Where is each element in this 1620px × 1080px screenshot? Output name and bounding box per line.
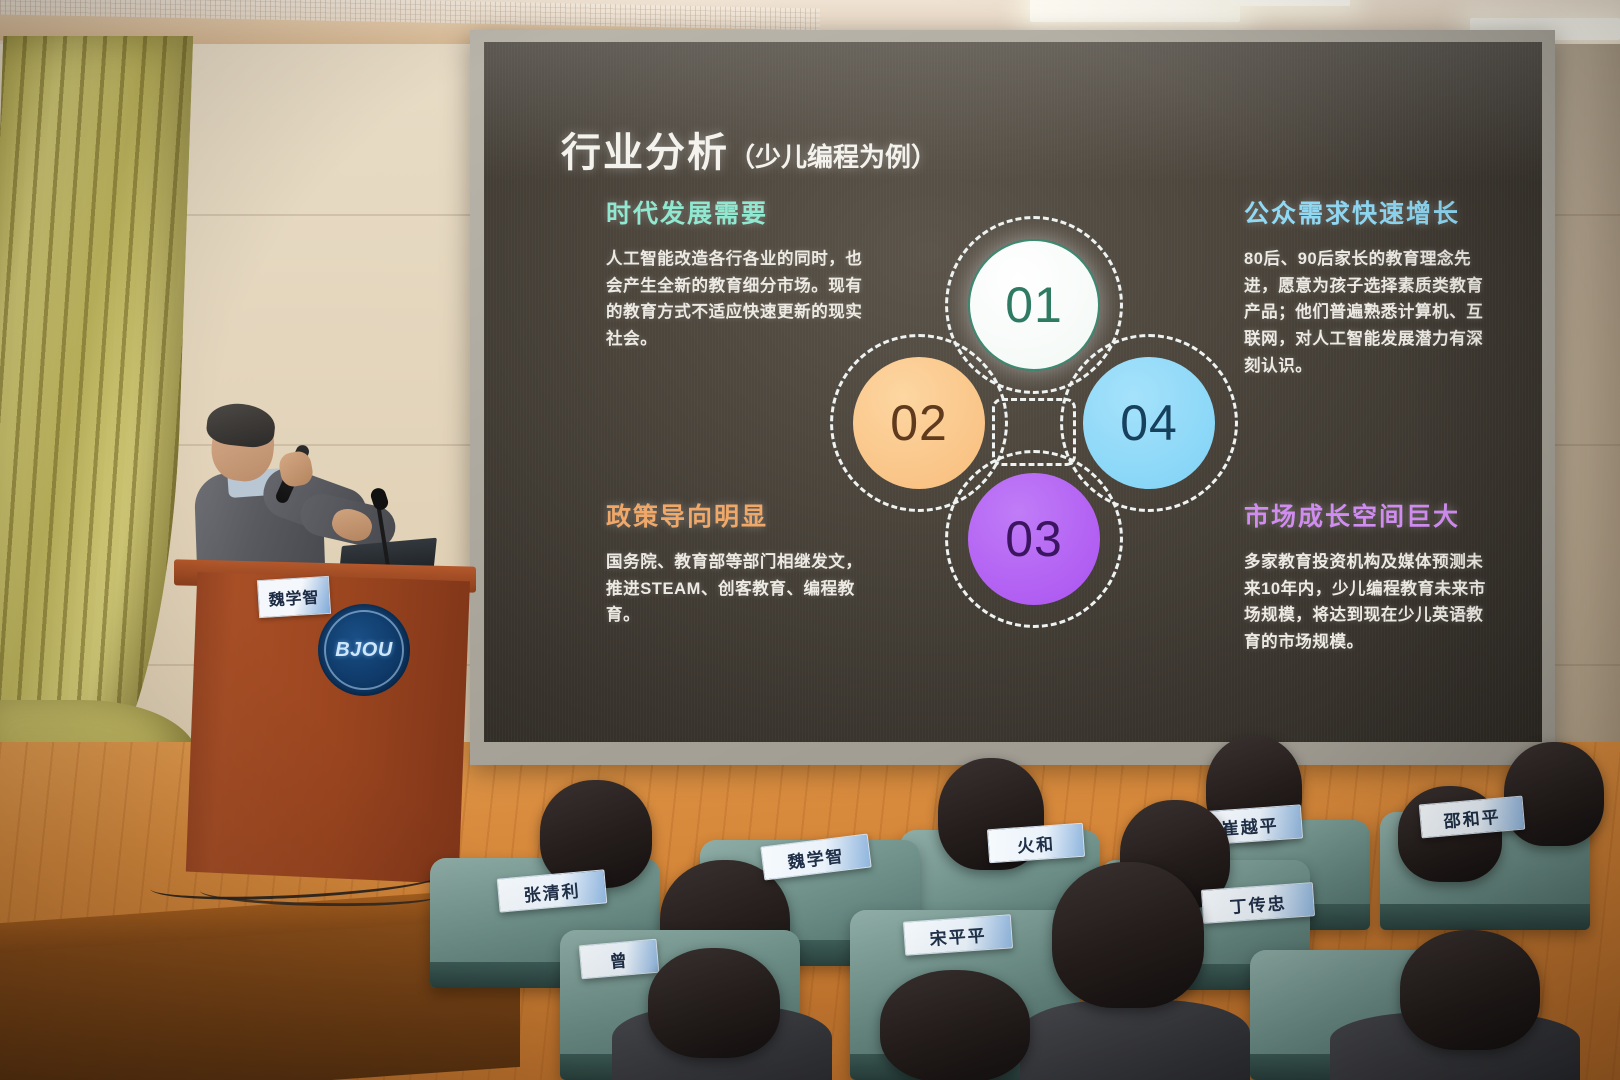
podium-nameplate-text: 魏学智	[268, 583, 320, 610]
audience-nameplate-text: 火和	[1016, 829, 1056, 857]
diagram-center-box	[992, 398, 1076, 466]
bjou-logo: BJOU	[318, 604, 410, 696]
audience-nameplate-text: 张清利	[523, 876, 582, 906]
podium-nameplate: 魏学智	[257, 576, 331, 618]
slide-heading-market-growth: 市场成长空间巨大	[1244, 497, 1486, 533]
audience-nameplate-text: 魏学智	[786, 841, 846, 873]
audience-nameplate-text: 丁传忠	[1229, 889, 1288, 918]
seat-base	[1380, 904, 1590, 930]
diagram-bubble-04: 04	[1083, 357, 1215, 489]
lecture-hall-scene: 行业分析（少儿编程为例） 时代发展需要 人工智能改造各行各业的同时，也会产生全新…	[0, 0, 1620, 1080]
projection-screen[interactable]: 行业分析（少儿编程为例） 时代发展需要 人工智能改造各行各业的同时，也会产生全新…	[484, 42, 1542, 742]
diagram-bubble-01: 01	[968, 239, 1100, 371]
diagram-bubble-02: 02	[853, 357, 985, 489]
slide-title: 行业分析（少儿编程为例）	[561, 120, 937, 178]
slide-body-public-demand: 80后、90后家长的教育理念先进，愿意为孩子选择素质类教育产品；他们普遍熟悉计算…	[1244, 246, 1486, 380]
slide-title-sub: （少儿编程为例）	[729, 142, 937, 172]
slide-heading-public-demand: 公众需求快速增长	[1244, 194, 1486, 230]
slide-block-bottom-right: 市场成长空间巨大 多家教育投资机构及媒体预测未来10年内，少儿编程教育未来市场规…	[1244, 497, 1486, 656]
audience-nameplate-text: 崔越平	[1221, 811, 1280, 840]
slide-block-top-right: 公众需求快速增长 80后、90后家长的教育理念先进，愿意为孩子选择素质类教育产品…	[1244, 194, 1486, 380]
audience-head-front-4	[880, 970, 1030, 1080]
audience-head-front-2	[1052, 862, 1204, 1008]
petal-diagram: 01 02 03 04	[824, 222, 1244, 652]
audience-nameplate-zeng: 曾	[579, 939, 660, 980]
ceiling-light-3	[1230, 0, 1350, 6]
bjou-logo-ring	[324, 610, 404, 690]
audience-nameplate-text: 宋平平	[929, 921, 988, 950]
audience-head-back-3	[1504, 742, 1604, 846]
audience-nameplate-text: 曾	[608, 946, 629, 973]
diagram-bubble-03: 03	[968, 473, 1100, 605]
slide-title-main: 行业分析	[561, 131, 729, 175]
audience-head-front-3	[1400, 930, 1540, 1050]
audience-head-front-1	[648, 948, 780, 1058]
audience-shoulders-front-2	[1020, 1000, 1250, 1080]
slide-body-market-growth: 多家教育投资机构及媒体预测未来10年内，少儿编程教育未来市场规模，将达到现在少儿…	[1244, 549, 1486, 656]
podium	[180, 572, 470, 884]
audience-nameplate-text: 邵和平	[1443, 802, 1502, 832]
ceiling-light-1	[1030, 0, 1240, 22]
audience-nameplate-huohe: 火和	[987, 823, 1085, 864]
